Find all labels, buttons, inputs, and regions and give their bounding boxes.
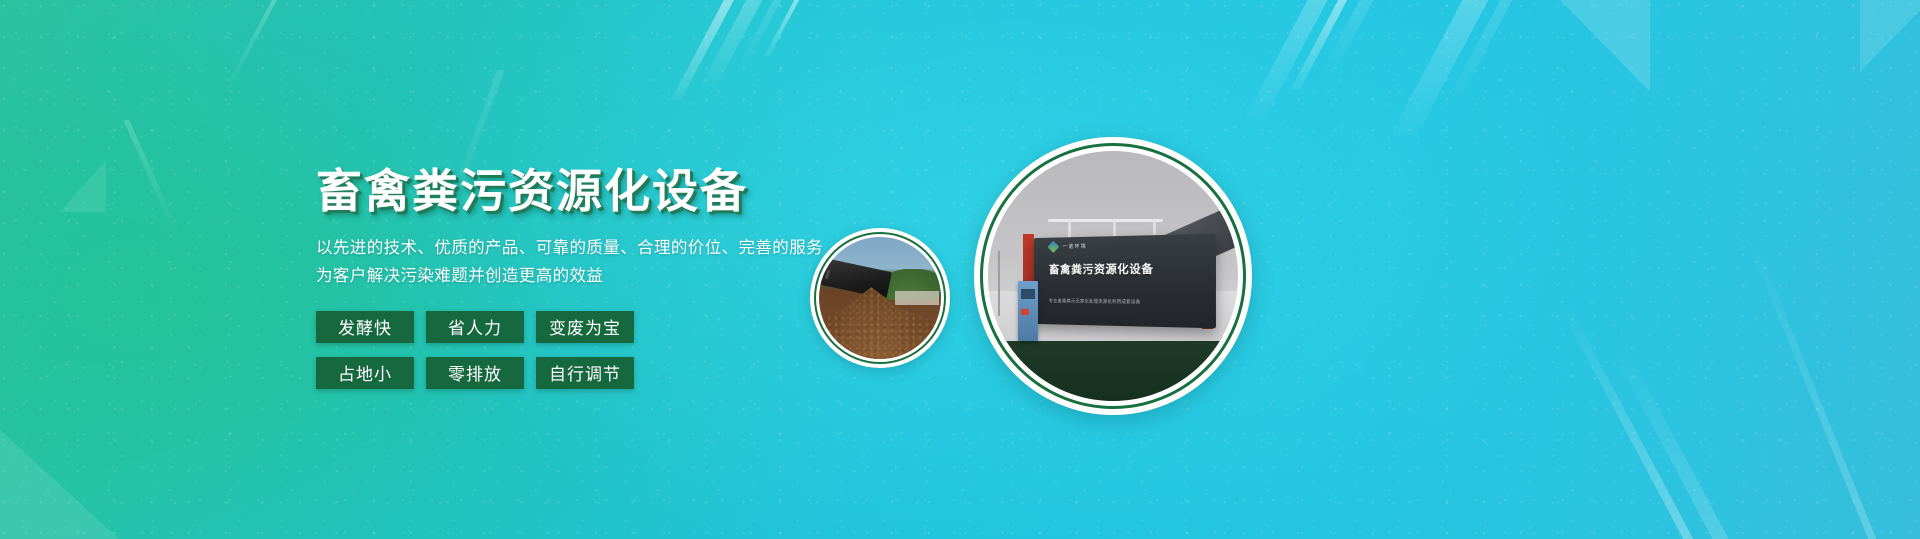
light-streak [1743, 230, 1876, 539]
decor-triangle [1560, 0, 1650, 92]
equipment-3d-render[interactable]: 一 诺 环 境 畜禽粪污资源化设备 专业畜禽粪污无害化处理资源化利用成套设备 [974, 137, 1252, 415]
container-product-label: 畜禽粪污资源化设备 [1049, 261, 1154, 278]
light-streak [1556, 300, 1694, 539]
render-content: 一 诺 环 境 畜禽粪污资源化设备 专业畜禽粪污无害化处理资源化利用成套设备 [988, 151, 1238, 401]
decor-triangle [0, 430, 120, 539]
feature-tag-small-footprint[interactable]: 占地小 [316, 357, 414, 389]
compost-pile-photo[interactable] [810, 228, 950, 368]
feature-tag-zero-emission[interactable]: 零排放 [426, 357, 524, 389]
page-title: 畜禽粪污资源化设备 [316, 165, 936, 218]
decor-triangle [1860, 0, 1920, 72]
light-streak [1444, 0, 1520, 106]
control-panel-screen [1021, 289, 1035, 299]
pipe-decor [1048, 219, 1163, 222]
light-streak [700, 0, 767, 86]
control-panel-button [1021, 309, 1029, 316]
company-logo-text: 一 诺 环 境 [1062, 243, 1085, 250]
control-panel-decor [1018, 281, 1038, 341]
feature-tag-waste-to-treasure[interactable]: 变废为宝 [536, 311, 634, 343]
light-streak [737, 0, 786, 68]
light-streak [1321, 0, 1381, 72]
light-streak [1390, 0, 1496, 136]
feature-tag-fast-fermentation[interactable]: 发酵快 [316, 311, 414, 343]
decor-triangle [60, 160, 106, 212]
feature-tag-labor-saving[interactable]: 省人力 [426, 311, 524, 343]
company-logo-icon [1047, 241, 1059, 253]
feature-tag-self-adjusting[interactable]: 自行调节 [536, 357, 634, 389]
wall-decor [895, 291, 939, 306]
compost-photo-content [819, 237, 941, 359]
conveyor-leg-decor [825, 269, 831, 279]
light-streak [671, 0, 739, 100]
light-streak [123, 120, 182, 240]
background-noise-texture [0, 0, 1920, 539]
conveyor-belt-decor [819, 256, 892, 298]
light-streak [1607, 340, 1729, 539]
light-streak [224, 0, 277, 90]
promo-banner: 畜禽粪污资源化设备 以先进的技术、优质的产品、可靠的质量、合理的价位、完善的服务… [0, 0, 1920, 539]
feature-tag-list: 发酵快 省人力 变废为宝 占地小 零排放 自行调节 [316, 311, 656, 389]
light-streak [764, 0, 804, 56]
render-ring-border: 一 诺 环 境 畜禽粪污资源化设备 专业畜禽粪污无害化处理资源化利用成套设备 [980, 143, 1246, 409]
light-streak [1245, 0, 1335, 118]
container-product-sublabel: 专业畜禽粪污无害化处理资源化利用成套设备 [1049, 298, 1141, 305]
light-streak [1290, 0, 1354, 90]
ground-dark-decor [988, 336, 1238, 401]
equipment-container-body: 一 诺 环 境 畜禽粪污资源化设备 专业畜禽粪污无害化处理资源化利用成套设备 [1034, 234, 1216, 329]
photo-ring-border [814, 232, 946, 364]
